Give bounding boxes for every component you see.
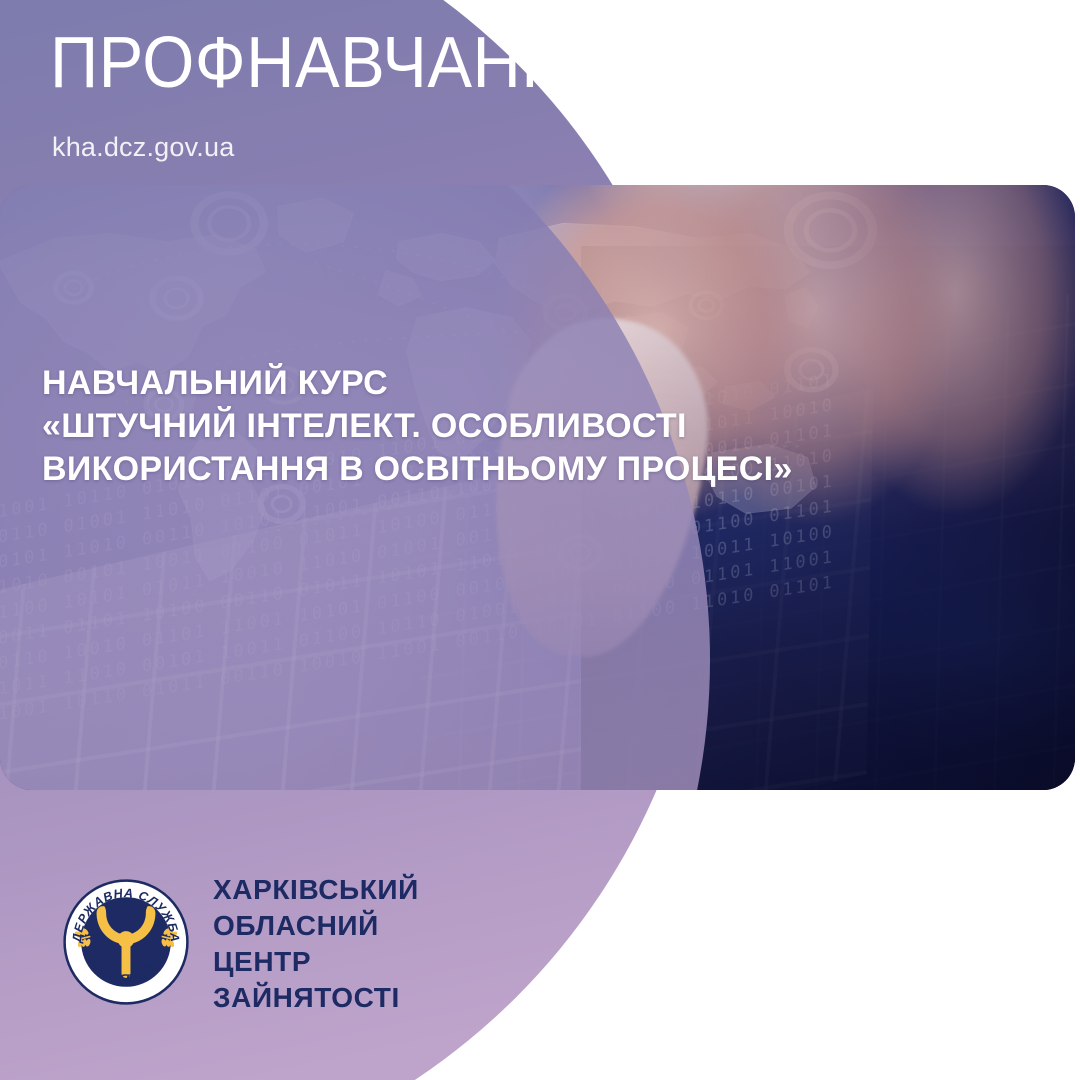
org-line-3: ЦЕНТР — [213, 944, 419, 980]
poster-canvas: 01001 10110 01011 00110 10010 11001 0011… — [0, 0, 1080, 1080]
website-url[interactable]: kha.dcz.gov.ua — [52, 132, 234, 162]
org-line-1: ХАРКІВСЬКИЙ — [213, 872, 419, 908]
headline-line-3: ВИКОРИСТАННЯ В ОСВІТНЬОМУ ПРОЦЕСІ» — [42, 448, 793, 491]
organization-name: ХАРКІВСЬКИЙ ОБЛАСНИЙ ЦЕНТР ЗАЙНЯТОСТІ — [213, 872, 419, 1016]
state-employment-service-logo-icon: ДЕРЖАВНА СЛУЖБА ЗАЙНЯТОСТІ — [62, 878, 190, 1006]
org-line-2: ОБЛАСНИЙ — [213, 908, 419, 944]
headline-line-2: «ШТУЧНИЙ ІНТЕЛЕКТ. ОСОБЛИВОСТІ — [42, 405, 793, 448]
course-headline: НАВЧАЛЬНИЙ КУРС «ШТУЧНИЙ ІНТЕЛЕКТ. ОСОБЛ… — [42, 362, 793, 491]
footer: ДЕРЖАВНА СЛУЖБА ЗАЙНЯТОСТІ ХАРКІВСЬКИЙ О… — [0, 860, 640, 1050]
header: ПРОФНАВЧАННЯ kha.dcz.gov.ua — [0, 0, 640, 185]
headline-line-1: НАВЧАЛЬНИЙ КУРС — [42, 362, 793, 405]
org-line-4: ЗАЙНЯТОСТІ — [213, 980, 419, 1016]
page-title: ПРОФНАВЧАННЯ — [50, 25, 619, 101]
